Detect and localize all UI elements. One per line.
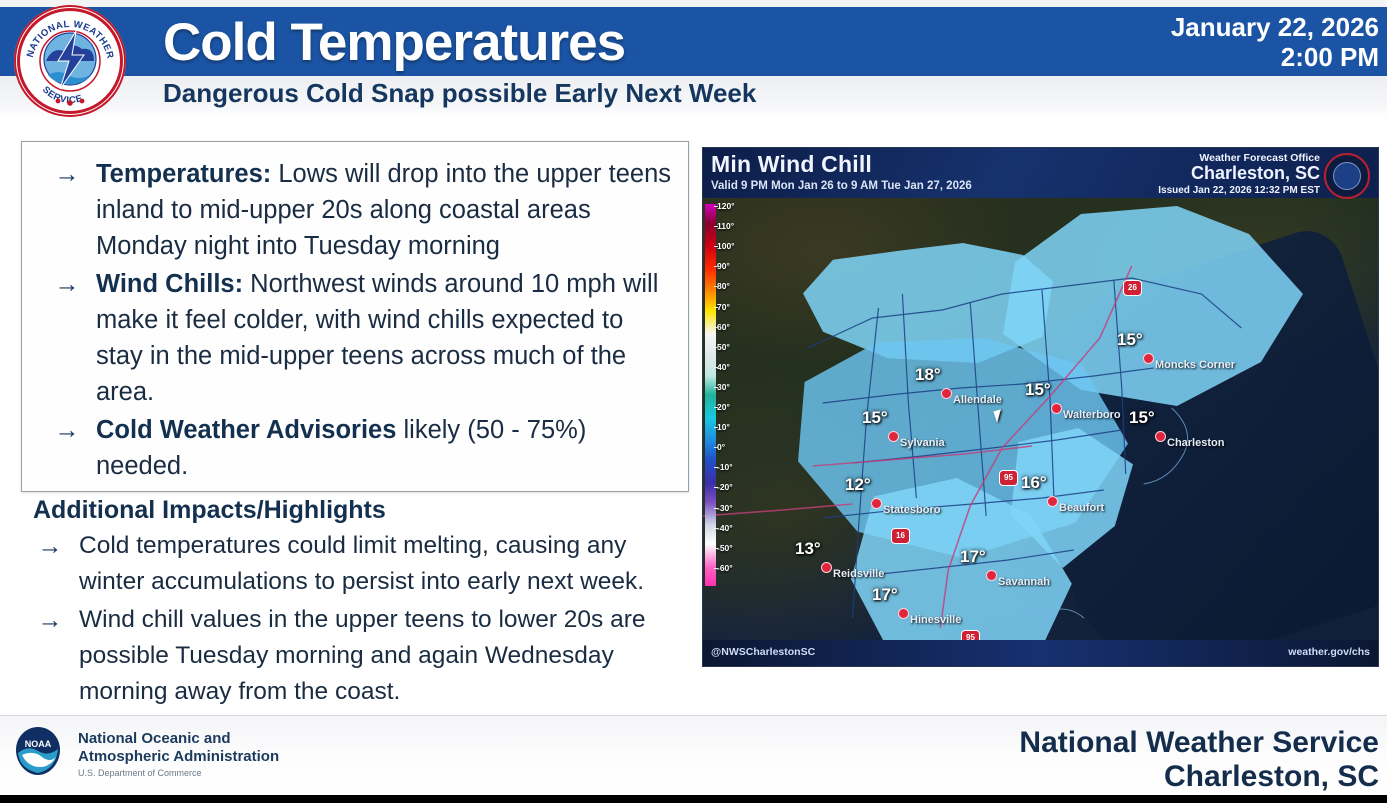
station-dot-icon [871, 498, 882, 509]
additional-impacts-list: → Cold temperatures could limit melting,… [21, 528, 689, 712]
key-messages-list: → Temperatures: Lows will drop into the … [22, 142, 688, 484]
station-value: 16° [1021, 473, 1047, 493]
map-banner: Min Wind Chill Valid 9 PM Mon Jan 26 to … [703, 148, 1378, 198]
page-subtitle: Dangerous Cold Snap possible Early Next … [163, 78, 756, 109]
station-label: Sylvania [900, 437, 945, 449]
bullet-lead: Temperatures: [96, 160, 271, 188]
arrow-icon: → [21, 528, 79, 564]
station-dot-icon [1051, 403, 1062, 414]
station-value: 17° [960, 547, 986, 567]
list-item: → Cold Weather Advisories likely (50 - 7… [38, 412, 672, 484]
bullet-text: Wind Chills: Northwest winds around 10 m… [96, 266, 672, 410]
nws-logo-icon: NATIONAL WEATHER SERVICE [14, 5, 126, 117]
map-footer: @NWSCharlestonSC weather.gov/chs [703, 640, 1378, 666]
nws-seal-svg: NATIONAL WEATHER SERVICE [14, 5, 126, 117]
map-website-url: weather.gov/chs [1288, 646, 1370, 658]
station-label: Beaufort [1059, 502, 1104, 514]
station-value: 15° [862, 408, 888, 428]
footer-office: Charleston, SC [1019, 760, 1379, 794]
scale-label: 10° [717, 422, 730, 432]
station-dot-icon [898, 608, 909, 619]
station-dot-icon [1047, 496, 1058, 507]
arrow-icon: → [38, 412, 96, 448]
noaa-logo-icon: NOAA [12, 725, 64, 777]
station-dot-icon [821, 562, 832, 573]
bullet-text: Cold temperatures could limit melting, c… [79, 528, 689, 600]
bottom-black-bar [0, 795, 1387, 803]
key-messages-box: → Temperatures: Lows will drop into the … [21, 141, 689, 492]
scale-label: 70° [717, 302, 730, 312]
station-value: 17° [872, 585, 898, 605]
svg-text:NOAA: NOAA [25, 739, 52, 749]
list-item: → Wind Chills: Northwest winds around 10… [38, 266, 672, 410]
bullet-text: Temperatures: Lows will drop into the up… [96, 156, 672, 264]
noaa-department: U.S. Department of Commerce [78, 768, 279, 778]
list-item: → Wind chill values in the upper teens t… [21, 602, 689, 710]
station-value: 12° [845, 475, 871, 495]
nws-seal-small-icon [1324, 153, 1370, 199]
scale-label: 30° [717, 382, 730, 392]
map-title: Min Wind Chill [711, 151, 872, 178]
station-label: Walterboro [1063, 409, 1121, 421]
scale-label: 120° [717, 201, 735, 211]
wind-chill-map[interactable]: 26 95 16 95 120°110°100°90°80°70°60°50°4… [702, 147, 1379, 667]
station-dot-icon [1155, 431, 1166, 442]
station-value: 15° [1025, 380, 1051, 400]
scale-label: -10° [717, 462, 733, 472]
station-value: 18° [915, 365, 941, 385]
noaa-wordmark: National Oceanic and Atmospheric Adminis… [78, 730, 279, 778]
footer: NOAA National Oceanic and Atmospheric Ad… [0, 715, 1387, 796]
station-value: 15° [1117, 330, 1143, 350]
briefing-slide: NATIONAL WEATHER SERVICE Cold Temperatur… [0, 0, 1387, 803]
footer-agency-block: National Weather Service Charleston, SC [1019, 726, 1379, 793]
scale-label: -30° [717, 503, 733, 513]
map-wfo-office: Charleston, SC [1158, 164, 1320, 183]
header: NATIONAL WEATHER SERVICE Cold Temperatur… [0, 0, 1387, 118]
list-item: → Temperatures: Lows will drop into the … [38, 156, 672, 264]
list-item: → Cold temperatures could limit melting,… [21, 528, 689, 600]
scale-label: 110° [717, 221, 734, 231]
scale-label: -60° [717, 563, 733, 573]
arrow-icon: → [38, 156, 96, 192]
station-value: 13° [795, 539, 821, 559]
temperature-color-scale [705, 204, 716, 586]
bullet-lead: Wind Chills: [96, 270, 243, 298]
map-office-block: Weather Forecast Office Charleston, SC I… [1158, 152, 1320, 196]
bullet-text: Wind chill values in the upper teens to … [79, 602, 689, 710]
header-time: 2:00 PM [1281, 43, 1379, 72]
station-value: 15° [1129, 408, 1155, 428]
arrow-icon: → [38, 266, 96, 302]
bullet-lead: Cold Weather Advisories [96, 416, 396, 444]
scale-label: 100° [717, 241, 735, 251]
station-label: Moncks Corner [1155, 359, 1235, 371]
station-label: Reidsville [833, 568, 884, 580]
scale-label: 90° [717, 261, 730, 271]
highway-shield-95b: 95 [999, 470, 1018, 486]
station-dot-icon [986, 570, 997, 581]
highway-shield-26: 26 [1123, 280, 1142, 296]
station-label: Allendale [953, 394, 1002, 406]
additional-impacts-heading: Additional Impacts/Highlights [33, 496, 386, 525]
page-title: Cold Temperatures [163, 8, 625, 77]
header-datetime: January 22, 2026 2:00 PM [899, 8, 1379, 77]
header-date: January 22, 2026 [1171, 13, 1379, 42]
map-issued-time: Issued Jan 22, 2026 12:32 PM EST [1158, 185, 1320, 196]
scale-label: 60° [717, 322, 730, 332]
noaa-line-2: Atmospheric Administration [78, 748, 279, 766]
arrow-icon: → [21, 602, 79, 638]
station-dot-icon [941, 388, 952, 399]
scale-label: -50° [717, 543, 733, 553]
station-dot-icon [888, 431, 899, 442]
scale-label: 40° [717, 362, 730, 372]
scale-label: 50° [717, 342, 730, 352]
noaa-line-1: National Oceanic and [78, 730, 279, 748]
station-label: Statesboro [883, 504, 940, 516]
map-valid-period: Valid 9 PM Mon Jan 26 to 9 AM Tue Jan 27… [711, 180, 972, 192]
bullet-text: Cold Weather Advisories likely (50 - 75%… [96, 412, 672, 484]
station-label: Hinesville [910, 614, 961, 626]
scale-label: 20° [717, 402, 730, 412]
map-social-handle: @NWSCharlestonSC [711, 646, 815, 658]
scale-label: -20° [717, 482, 733, 492]
station-label: Savannah [998, 576, 1050, 588]
station-dot-icon [1143, 353, 1154, 364]
scale-label: 0° [717, 442, 725, 452]
station-label: Charleston [1167, 437, 1224, 449]
scale-label: 80° [717, 281, 730, 291]
footer-agency: National Weather Service [1019, 726, 1379, 760]
county-boundary-lines [703, 198, 1378, 640]
highway-shield-16: 16 [891, 528, 910, 544]
scale-label: -40° [717, 523, 733, 533]
